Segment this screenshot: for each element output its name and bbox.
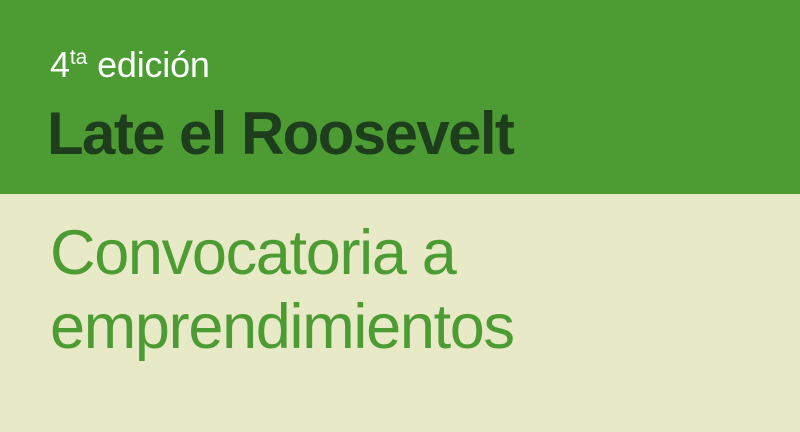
subtitle: Convocatoria a emprendimientos <box>50 216 514 364</box>
edition-word: edición <box>97 44 210 85</box>
edition-ordinal-suffix: ta <box>70 46 87 69</box>
header-content: 4ta edición Late el Roosevelt <box>50 0 800 194</box>
poster-banner: 4ta edición Late el Roosevelt Convocator… <box>0 0 800 432</box>
edition-number: 4 <box>50 44 70 85</box>
body-cream-section: Convocatoria a emprendimientos <box>0 194 800 432</box>
edition-label: 4ta edición <box>50 44 210 86</box>
subtitle-line-1: Convocatoria a <box>50 216 514 290</box>
header-green-band: 4ta edición Late el Roosevelt <box>0 0 800 194</box>
subtitle-line-2: emprendimientos <box>50 290 514 364</box>
page-title: Late el Roosevelt <box>47 101 513 167</box>
